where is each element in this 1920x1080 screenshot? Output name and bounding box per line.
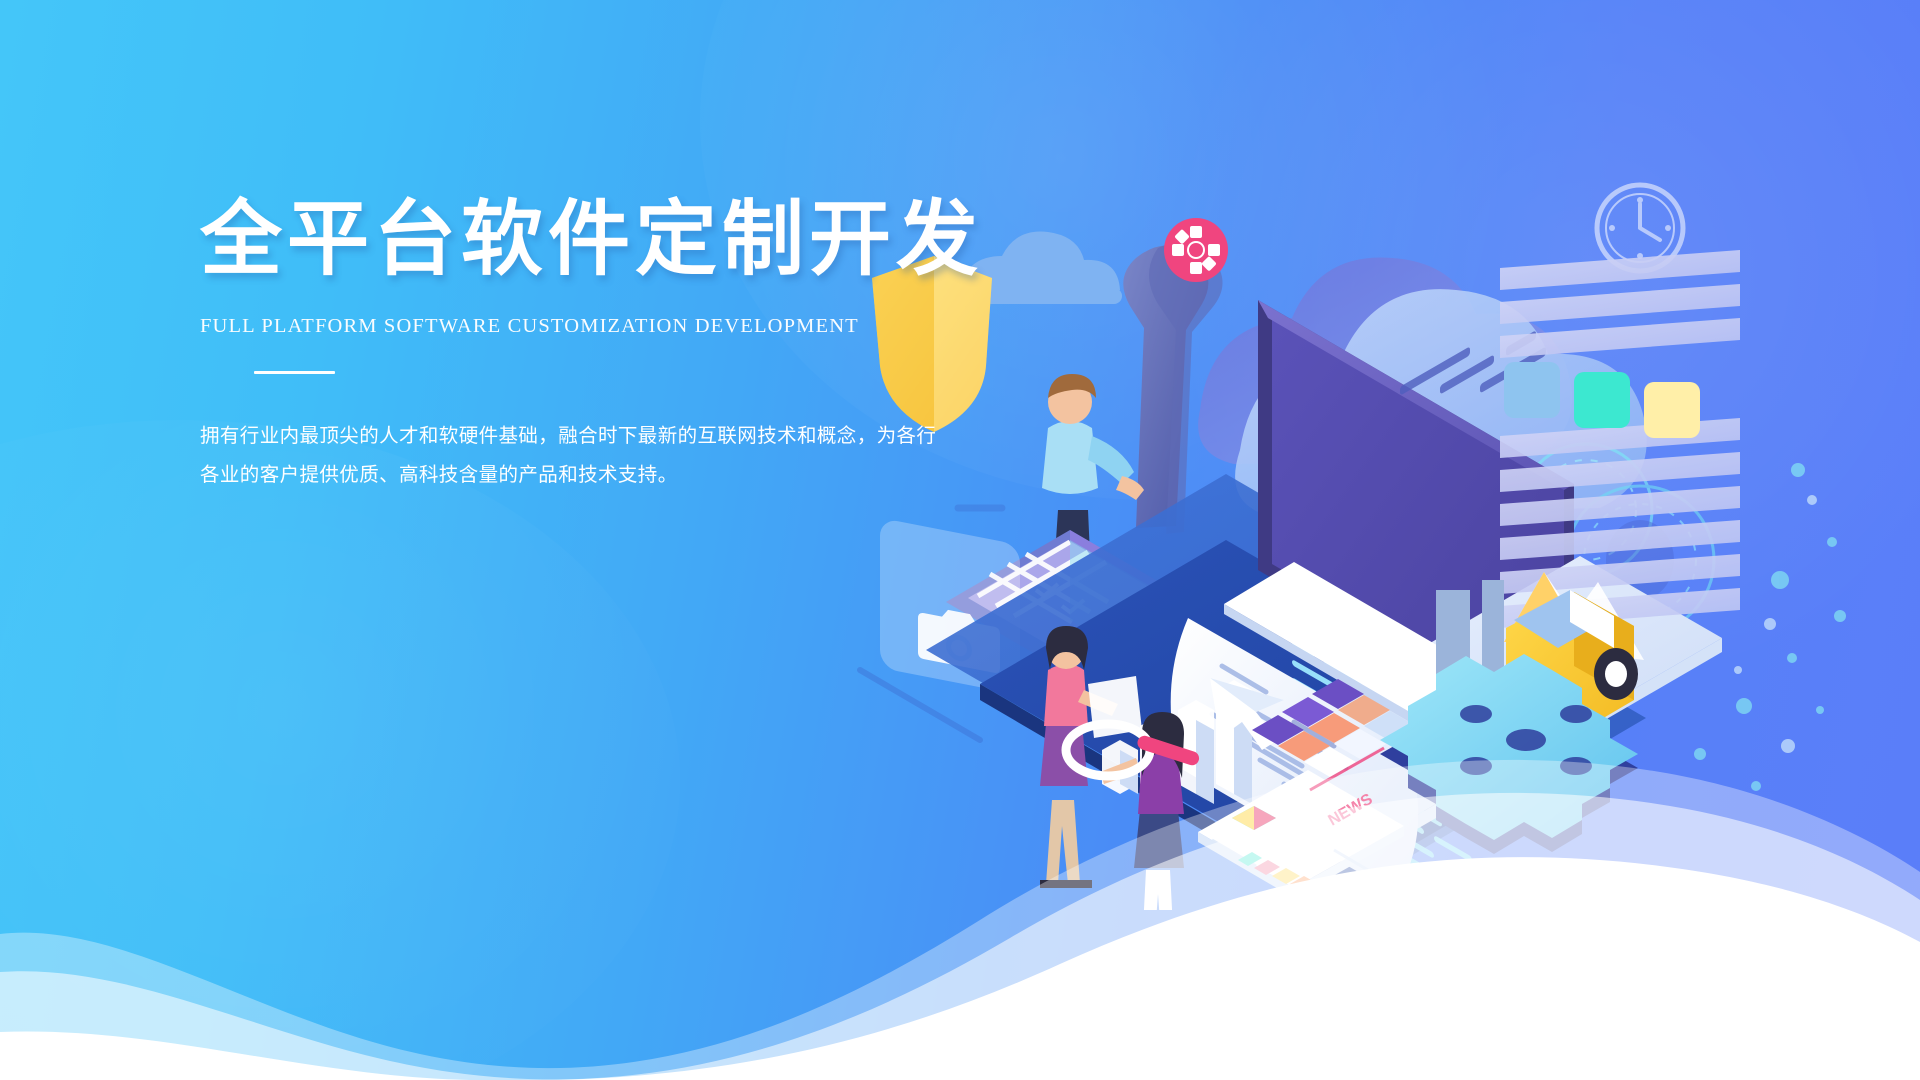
hero-description-line-2: 各业的客户提供优质、高科技含量的产品和技术支持。	[200, 456, 840, 495]
bottom-wave-decoration	[0, 720, 1920, 1080]
floating-dots-light	[1734, 495, 1817, 753]
page-title: 全平台软件定制开发	[200, 196, 900, 285]
page-subtitle: FULL PLATFORM SOFTWARE CUSTOMIZATION DEV…	[200, 315, 900, 338]
hero-description-line-1: 拥有行业内最顶尖的人才和软硬件基础，融合时下最新的互联网技术和概念，为各行	[200, 417, 840, 456]
gear-badge-icon	[1164, 218, 1228, 282]
hero-text-column: 全平台软件定制开发 FULL PLATFORM SOFTWARE CUSTOMI…	[200, 196, 900, 495]
hero-banner: NEWS	[0, 0, 1920, 1080]
hero-description: 拥有行业内最顶尖的人才和软硬件基础，融合时下最新的互联网技术和概念，为各行 各业…	[200, 417, 840, 495]
title-divider	[254, 371, 335, 374]
